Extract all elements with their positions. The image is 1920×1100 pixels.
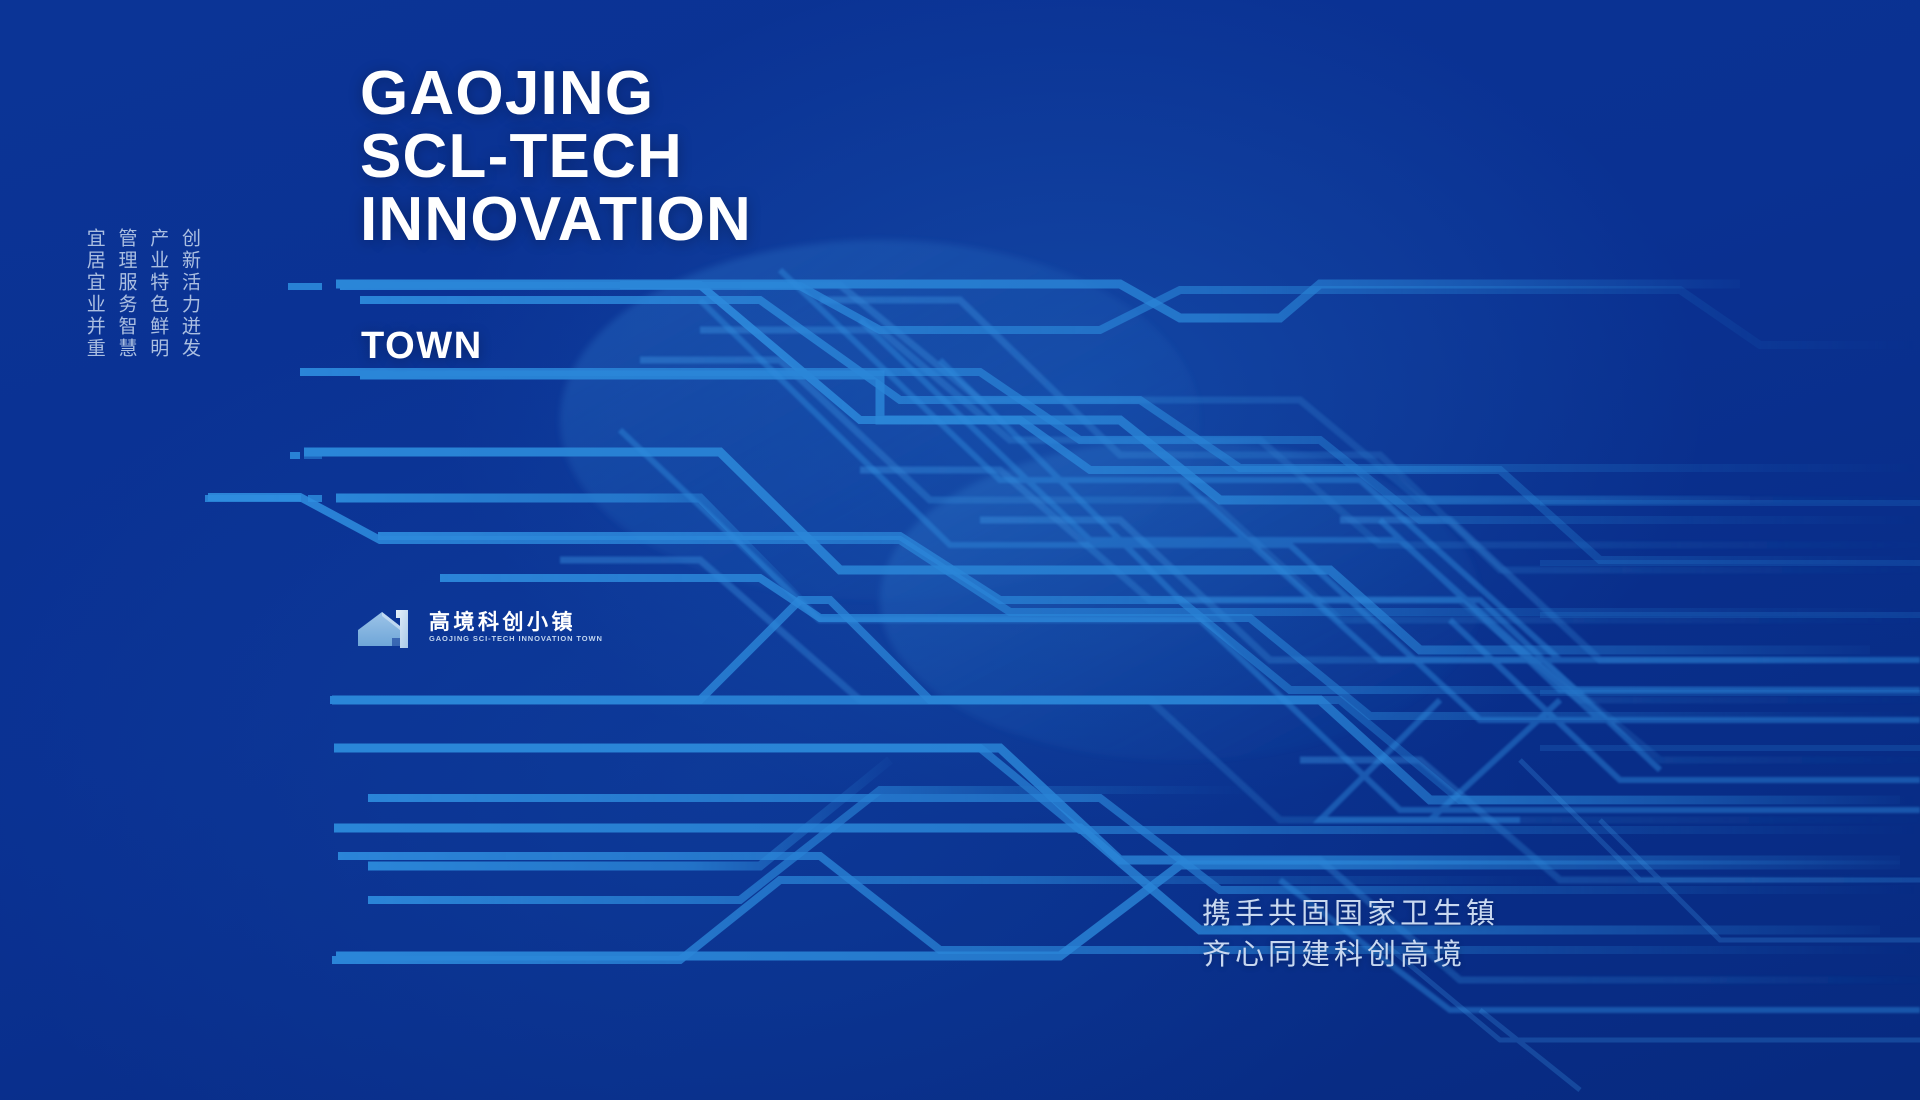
title-line-3: INNOVATION <box>360 188 752 251</box>
vertical-slogan-col-1: 创新活力迸发 <box>177 228 201 360</box>
background-glow <box>560 240 1480 760</box>
circuit-line-background <box>0 0 1920 1100</box>
logo-english-name: GAOJING SCI-TECH INNOVATION TOWN <box>429 635 603 643</box>
vertical-slogan-col-2: 产业特色鲜明 <box>146 228 170 360</box>
left-tick-marks <box>205 283 322 502</box>
title-subword-town: TOWN <box>361 325 483 368</box>
brand-logo: 高境科创小镇 GAOJING SCI-TECH INNOVATION TOWN <box>356 604 603 650</box>
vertical-slogan-col-3: 管理服务智慧 <box>114 228 138 360</box>
page-title: GAOJING SCL-TECH INNOVATION <box>360 62 752 252</box>
house-building-logo-icon <box>356 604 418 650</box>
circuit-right-fade <box>1540 500 1920 751</box>
bottom-slogan-line-1: 携手共固国家卫生镇 <box>1202 893 1499 934</box>
title-line-1: GAOJING <box>360 62 752 125</box>
title-line-2: SCL-TECH <box>360 125 752 188</box>
bottom-slogan-line-2: 齐心同建科创高境 <box>1202 934 1499 975</box>
vertical-slogan-col-4: 宜居宜业并重 <box>82 228 106 360</box>
poster-canvas: 创新活力迸发 产业特色鲜明 管理服务智慧 宜居宜业并重 GAOJING SCL-… <box>0 0 1920 1100</box>
vertical-slogan: 创新活力迸发 产业特色鲜明 管理服务智慧 宜居宜业并重 <box>82 228 201 360</box>
bottom-slogan: 携手共固国家卫生镇 齐心同建科创高境 <box>1202 893 1499 975</box>
logo-text-block: 高境科创小镇 GAOJING SCI-TECH INNOVATION TOWN <box>429 612 603 643</box>
logo-chinese-name: 高境科创小镇 <box>429 612 603 633</box>
circuit-lines-dim <box>500 285 1920 980</box>
